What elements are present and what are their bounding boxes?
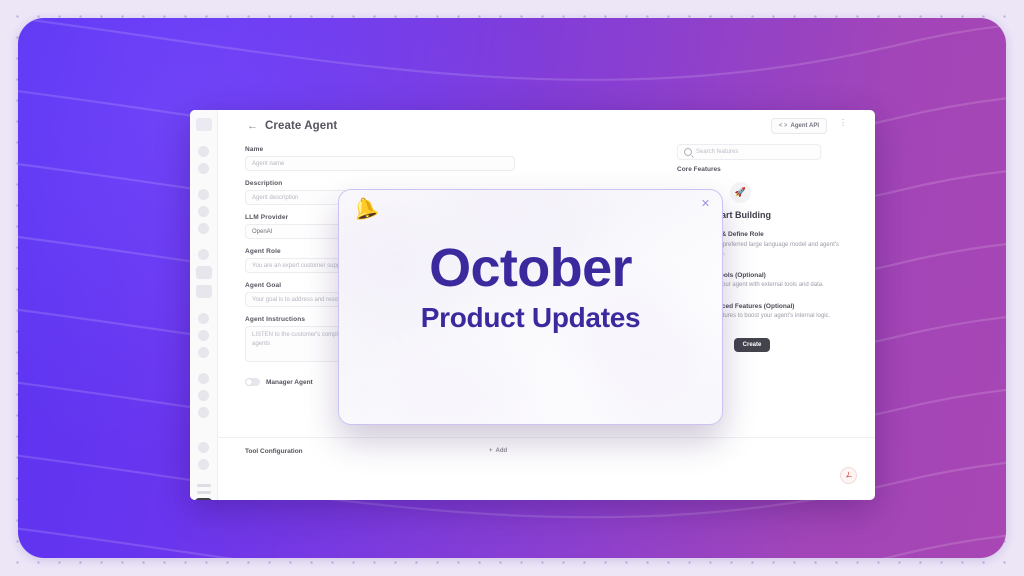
sidebar-item-help[interactable]: [198, 459, 209, 470]
sidebar-item-sparkle[interactable]: [198, 206, 209, 217]
add-tool-button[interactable]: + Add: [489, 448, 507, 454]
search-features-input[interactable]: Search features: [677, 144, 821, 160]
feature-item: Add Tools (Optional) Equip your agent wi…: [702, 272, 852, 291]
pdf-icon[interactable]: [840, 467, 857, 484]
feature-title: Advanced Features (Optional): [702, 303, 852, 310]
feature-desc: Add features to boost your agent's inter…: [702, 312, 852, 322]
create-button[interactable]: Create: [734, 338, 770, 352]
search-placeholder: Search features: [696, 149, 738, 155]
manager-agent-toggle[interactable]: [245, 378, 260, 386]
sidebar-item-box[interactable]: [198, 330, 209, 341]
field-label: Description: [245, 180, 515, 187]
sidebar-item-chat[interactable]: [198, 163, 209, 174]
sidebar-item-circle[interactable]: [198, 249, 209, 260]
search-icon: [684, 148, 692, 156]
feature-desc: Equip your agent with external tools and…: [702, 281, 852, 291]
feature-title: Name & Define Role: [702, 231, 852, 238]
sidebar-item-inbox[interactable]: [198, 146, 209, 157]
feature-desc: Set the preferred large language model a…: [702, 241, 852, 260]
close-icon[interactable]: ✕: [699, 198, 712, 211]
agent-api-button[interactable]: < > Agent API: [771, 118, 827, 134]
bell-icon: 🔔: [351, 196, 380, 222]
sidebar-item-clock[interactable]: [198, 313, 209, 324]
sidebar-separator: [197, 484, 211, 487]
manager-agent-label: Manager Agent: [266, 379, 313, 386]
tool-configuration-label: Tool Configuration: [245, 448, 303, 455]
product-updates-modal: 🔔 ✕ October Product Updates: [338, 189, 723, 425]
feature-item: Advanced Features (Optional) Add feature…: [702, 303, 852, 322]
screenshot-canvas: Local ← Create Agent < > Agent API ⋮ Nam…: [0, 0, 1024, 576]
sidebar-item-chip[interactable]: [198, 390, 209, 401]
kebab-menu-icon[interactable]: ⋮: [839, 119, 847, 127]
tool-configuration-bar: Tool Configuration + Add: [217, 437, 875, 464]
agent-api-label: Agent API: [791, 123, 819, 129]
modal-month-title: October: [339, 240, 722, 297]
app-sidebar[interactable]: Local: [190, 110, 218, 500]
name-input[interactable]: Agent name: [245, 156, 515, 171]
feature-title: Add Tools (Optional): [702, 272, 852, 279]
page-title: Create Agent: [265, 120, 337, 132]
rocket-icon: 🚀: [730, 182, 751, 203]
modal-body: October Product Updates: [339, 240, 722, 334]
sidebar-item-flag[interactable]: [196, 266, 212, 279]
plus-icon: +: [489, 448, 493, 454]
sidebar-item-agents[interactable]: [198, 189, 209, 200]
sidebar-item-gear[interactable]: [198, 442, 209, 453]
code-icon: < >: [779, 123, 788, 129]
sidebar-separator: [197, 491, 211, 494]
sidebar-workspace-avatar[interactable]: [195, 498, 212, 500]
feature-item: Name & Define Role Set the preferred lar…: [702, 231, 852, 260]
sidebar-item-wrench[interactable]: [198, 373, 209, 384]
start-building-panel: 🚀 Start Building Name & Define Role Set …: [702, 182, 852, 352]
app-header: ← Create Agent < > Agent API ⋮: [217, 110, 875, 140]
core-features-label: Core Features: [677, 166, 721, 173]
gradient-stage: Local ← Create Agent < > Agent API ⋮ Nam…: [18, 18, 1006, 558]
field-label: Name: [245, 146, 515, 153]
sidebar-item-home[interactable]: [196, 118, 212, 131]
sidebar-item-pencil[interactable]: [198, 407, 209, 418]
add-tool-label: Add: [496, 448, 508, 454]
sidebar-item-docs[interactable]: [196, 285, 212, 298]
sidebar-item-rocket[interactable]: [198, 347, 209, 358]
sidebar-item-globe[interactable]: [198, 223, 209, 234]
back-arrow-icon[interactable]: ←: [247, 121, 258, 132]
modal-drag-handle[interactable]: [508, 424, 554, 426]
form-field-name: Name Agent name: [245, 146, 515, 171]
modal-subtitle: Product Updates: [339, 303, 722, 334]
start-building-title: Start Building: [712, 210, 852, 220]
